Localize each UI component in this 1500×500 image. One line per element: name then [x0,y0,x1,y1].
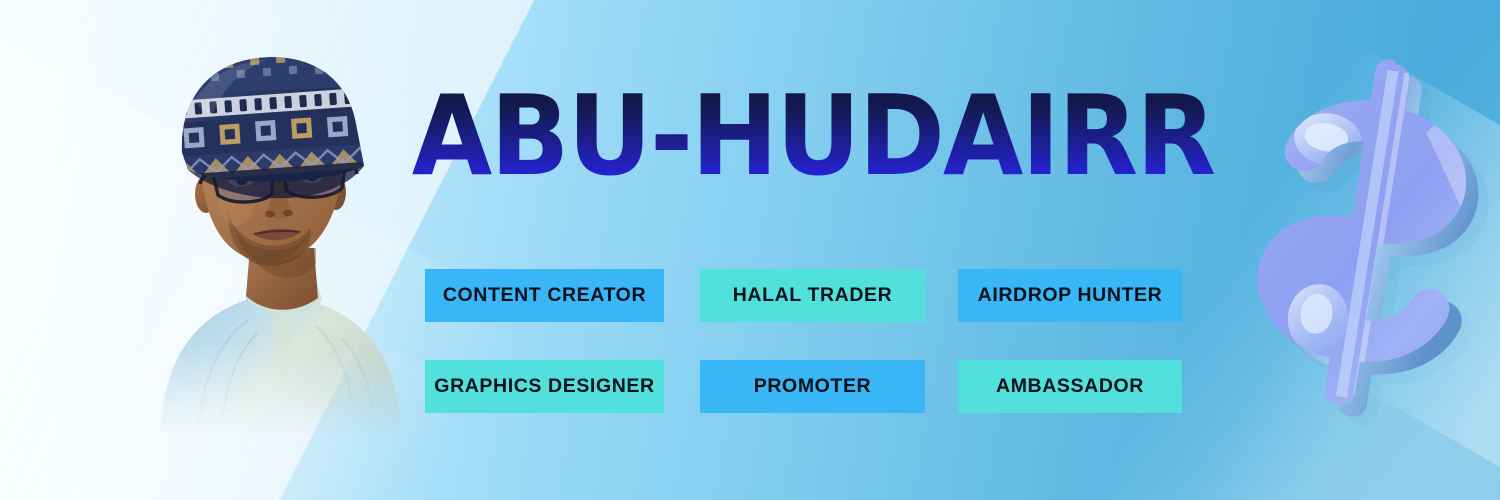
hausa-cap [166,48,391,198]
role-tag-ambassador[interactable]: AMBASSADOR [958,360,1182,413]
role-tag-label: AMBASSADOR [996,375,1144,398]
role-tag-promoter[interactable]: PROMOTER [700,360,925,413]
profile-banner: ABU-HUDAIRR CONTENT CREATOR HALAL TRADER… [0,0,1500,500]
role-tag-halal-trader[interactable]: HALAL TRADER [700,269,925,322]
page-title: ABU-HUDAIRR [443,72,1183,190]
avatar-portrait [150,42,402,440]
role-tag-content-creator[interactable]: CONTENT CREATOR [425,269,664,322]
role-tag-label: CONTENT CREATOR [443,284,646,307]
role-tag-label: GRAPHICS DESIGNER [434,375,654,398]
role-tag-label: PROMOTER [754,375,871,398]
role-tag-row-2: GRAPHICS DESIGNER PROMOTER AMBASSADOR [425,360,1182,413]
role-tag-label: HALAL TRADER [733,284,893,307]
role-tag-graphics-designer[interactable]: GRAPHICS DESIGNER [425,360,664,413]
title-text: ABU-HUDAIRR [412,73,1215,201]
role-tag-row-1: CONTENT CREATOR HALAL TRADER AIRDROP HUN… [425,269,1182,322]
role-tag-grid: CONTENT CREATOR HALAL TRADER AIRDROP HUN… [425,269,1182,413]
role-tag-label: AIRDROP HUNTER [978,284,1163,307]
role-tag-airdrop-hunter[interactable]: AIRDROP HUNTER [958,269,1182,322]
